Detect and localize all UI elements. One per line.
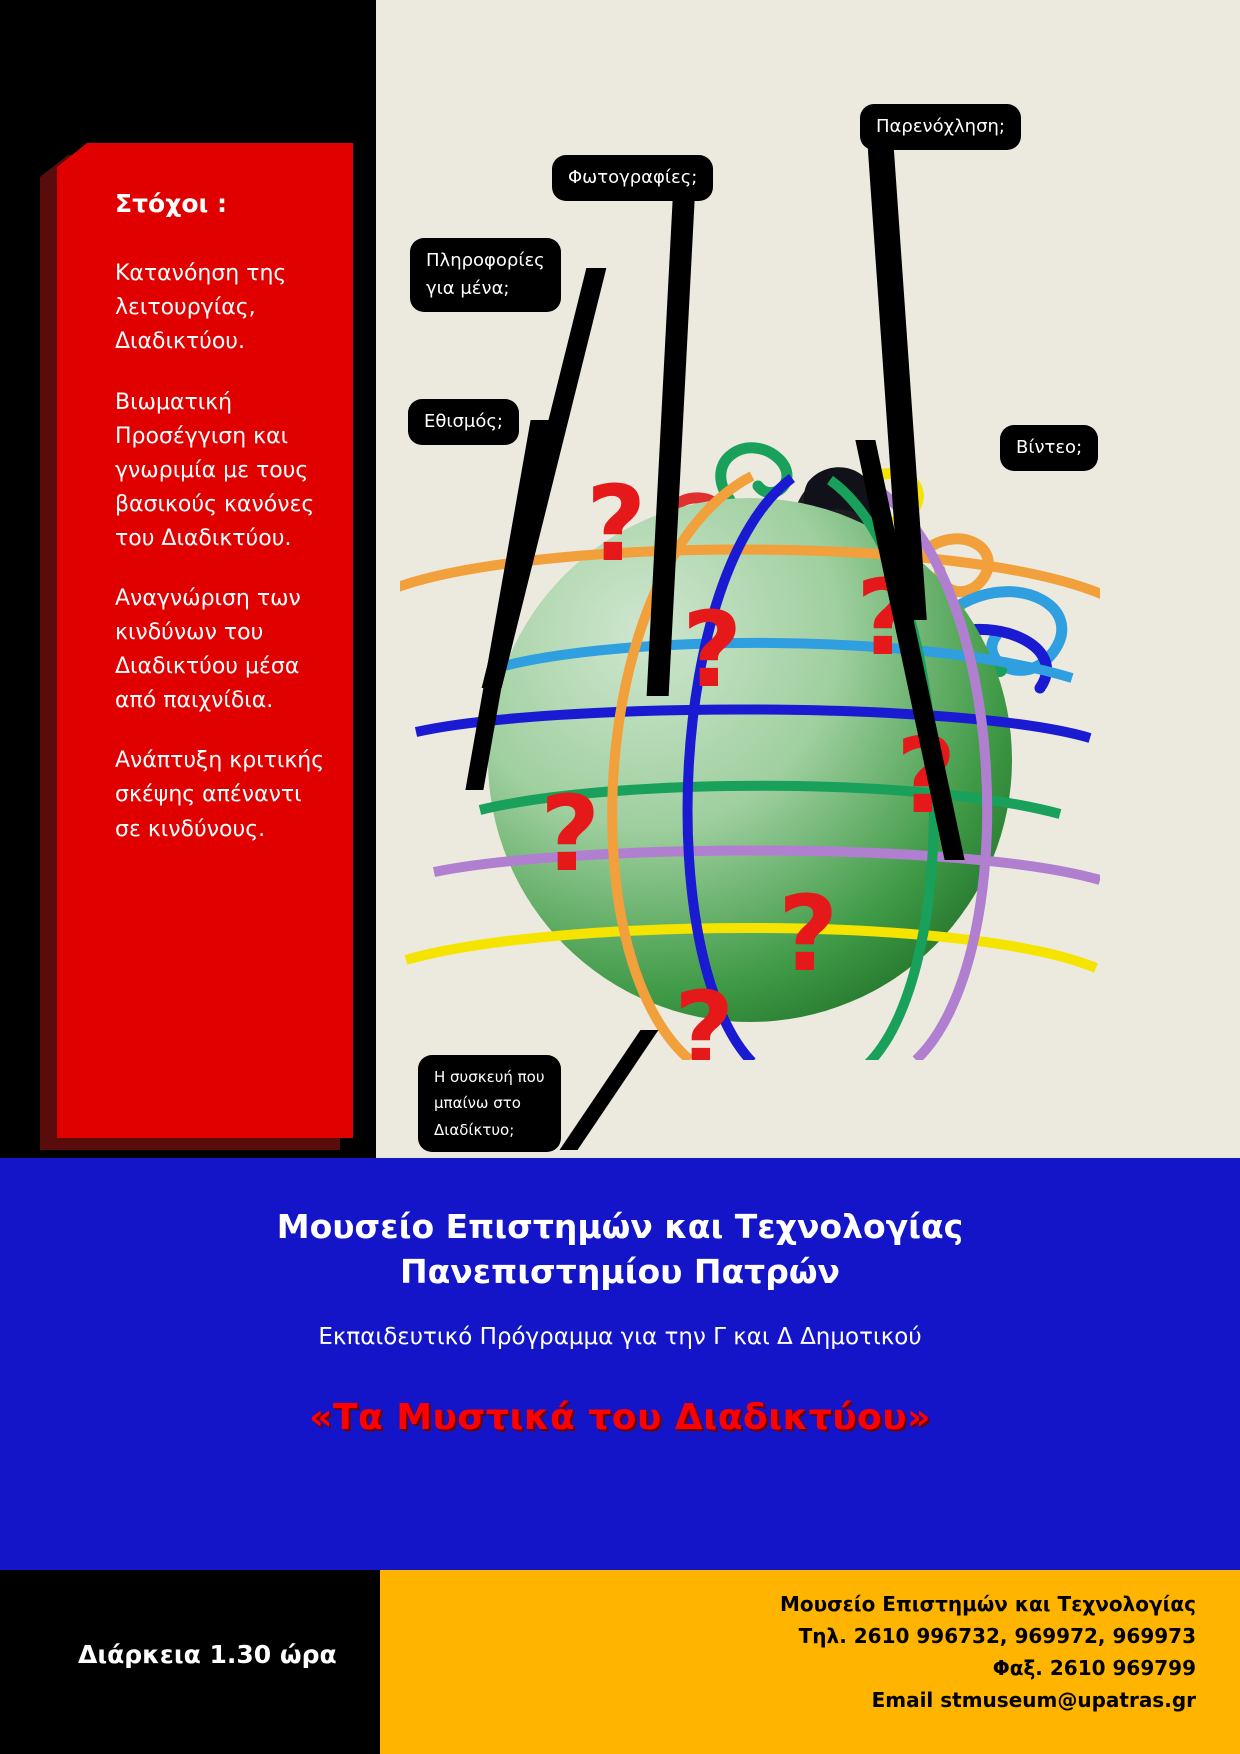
bubble-plirofories[interactable]: Πληροφορίες για μένα;: [410, 238, 561, 312]
contact-box: Μουσείο Επιστημών και Τεχνολογίας Τηλ. 2…: [380, 1570, 1240, 1754]
contact-museum: Μουσείο Επιστημών και Τεχνολογίας: [380, 1588, 1240, 1620]
svg-text:?: ?: [586, 463, 646, 585]
blue-footer-band: Μουσείο Επιστημών και Τεχνολογίας Πανεπι…: [0, 1158, 1240, 1570]
internet-globe-illustration: ? ? ? ? ? ? ?: [400, 420, 1100, 1060]
bubble-syskevi[interactable]: Η συσκευή που μπαίνω στο Διαδίκτυο;: [418, 1055, 561, 1152]
bubble-vinteo[interactable]: Βίντεο;: [1000, 425, 1098, 471]
bubble-ethismos[interactable]: Εθισμός;: [408, 399, 519, 445]
objective-item-3: Αναγνώριση των κινδύνων του Διαδικτύου μ…: [115, 582, 330, 718]
svg-text:?: ?: [682, 589, 742, 711]
museum-name-line2: Πανεπιστημίου Πατρών: [0, 1251, 1240, 1292]
svg-text:?: ?: [778, 873, 838, 995]
duration-label: Διάρκεια 1.30 ώρα: [78, 1640, 337, 1669]
contact-email[interactable]: Email stmuseum@upatras.gr: [380, 1684, 1240, 1716]
bubble-fotografies[interactable]: Φωτογραφίες;: [552, 155, 713, 201]
globe-svg: ? ? ? ? ? ? ?: [400, 420, 1100, 1060]
contact-fax: Φαξ. 2610 969799: [380, 1652, 1240, 1684]
objective-item-4: Ανάπτυξη κριτικής σκέψης απέναντι σε κιν…: [115, 744, 330, 846]
program-subtitle: Εκπαιδευτικό Πρόγραμμα για την Γ και Δ Δ…: [0, 1321, 1240, 1353]
museum-name-line1: Μουσείο Επιστημών και Τεχνολογίας: [0, 1206, 1240, 1247]
objectives-content: Στόχοι : Κατανόηση της λειτουργίας, Διαδ…: [115, 188, 330, 873]
objectives-title: Στόχοι :: [115, 188, 330, 219]
contact-phone: Τηλ. 2610 996732, 969972, 969973: [380, 1620, 1240, 1652]
bubble-parenochlisi[interactable]: Παρενόχληση;: [860, 104, 1021, 150]
poster-root: Στόχοι : Κατανόηση της λειτουργίας, Διαδ…: [0, 0, 1240, 1754]
svg-text:?: ?: [540, 773, 600, 895]
objective-item-2: Βιωματική Προσέγγιση και γνωριμία με του…: [115, 386, 330, 556]
objective-item-1: Κατανόηση της λειτουργίας, Διαδικτύου.: [115, 257, 330, 359]
program-title: «Τα Μυστικά του Διαδικτύου»: [0, 1397, 1240, 1438]
svg-text:?: ?: [674, 969, 734, 1060]
